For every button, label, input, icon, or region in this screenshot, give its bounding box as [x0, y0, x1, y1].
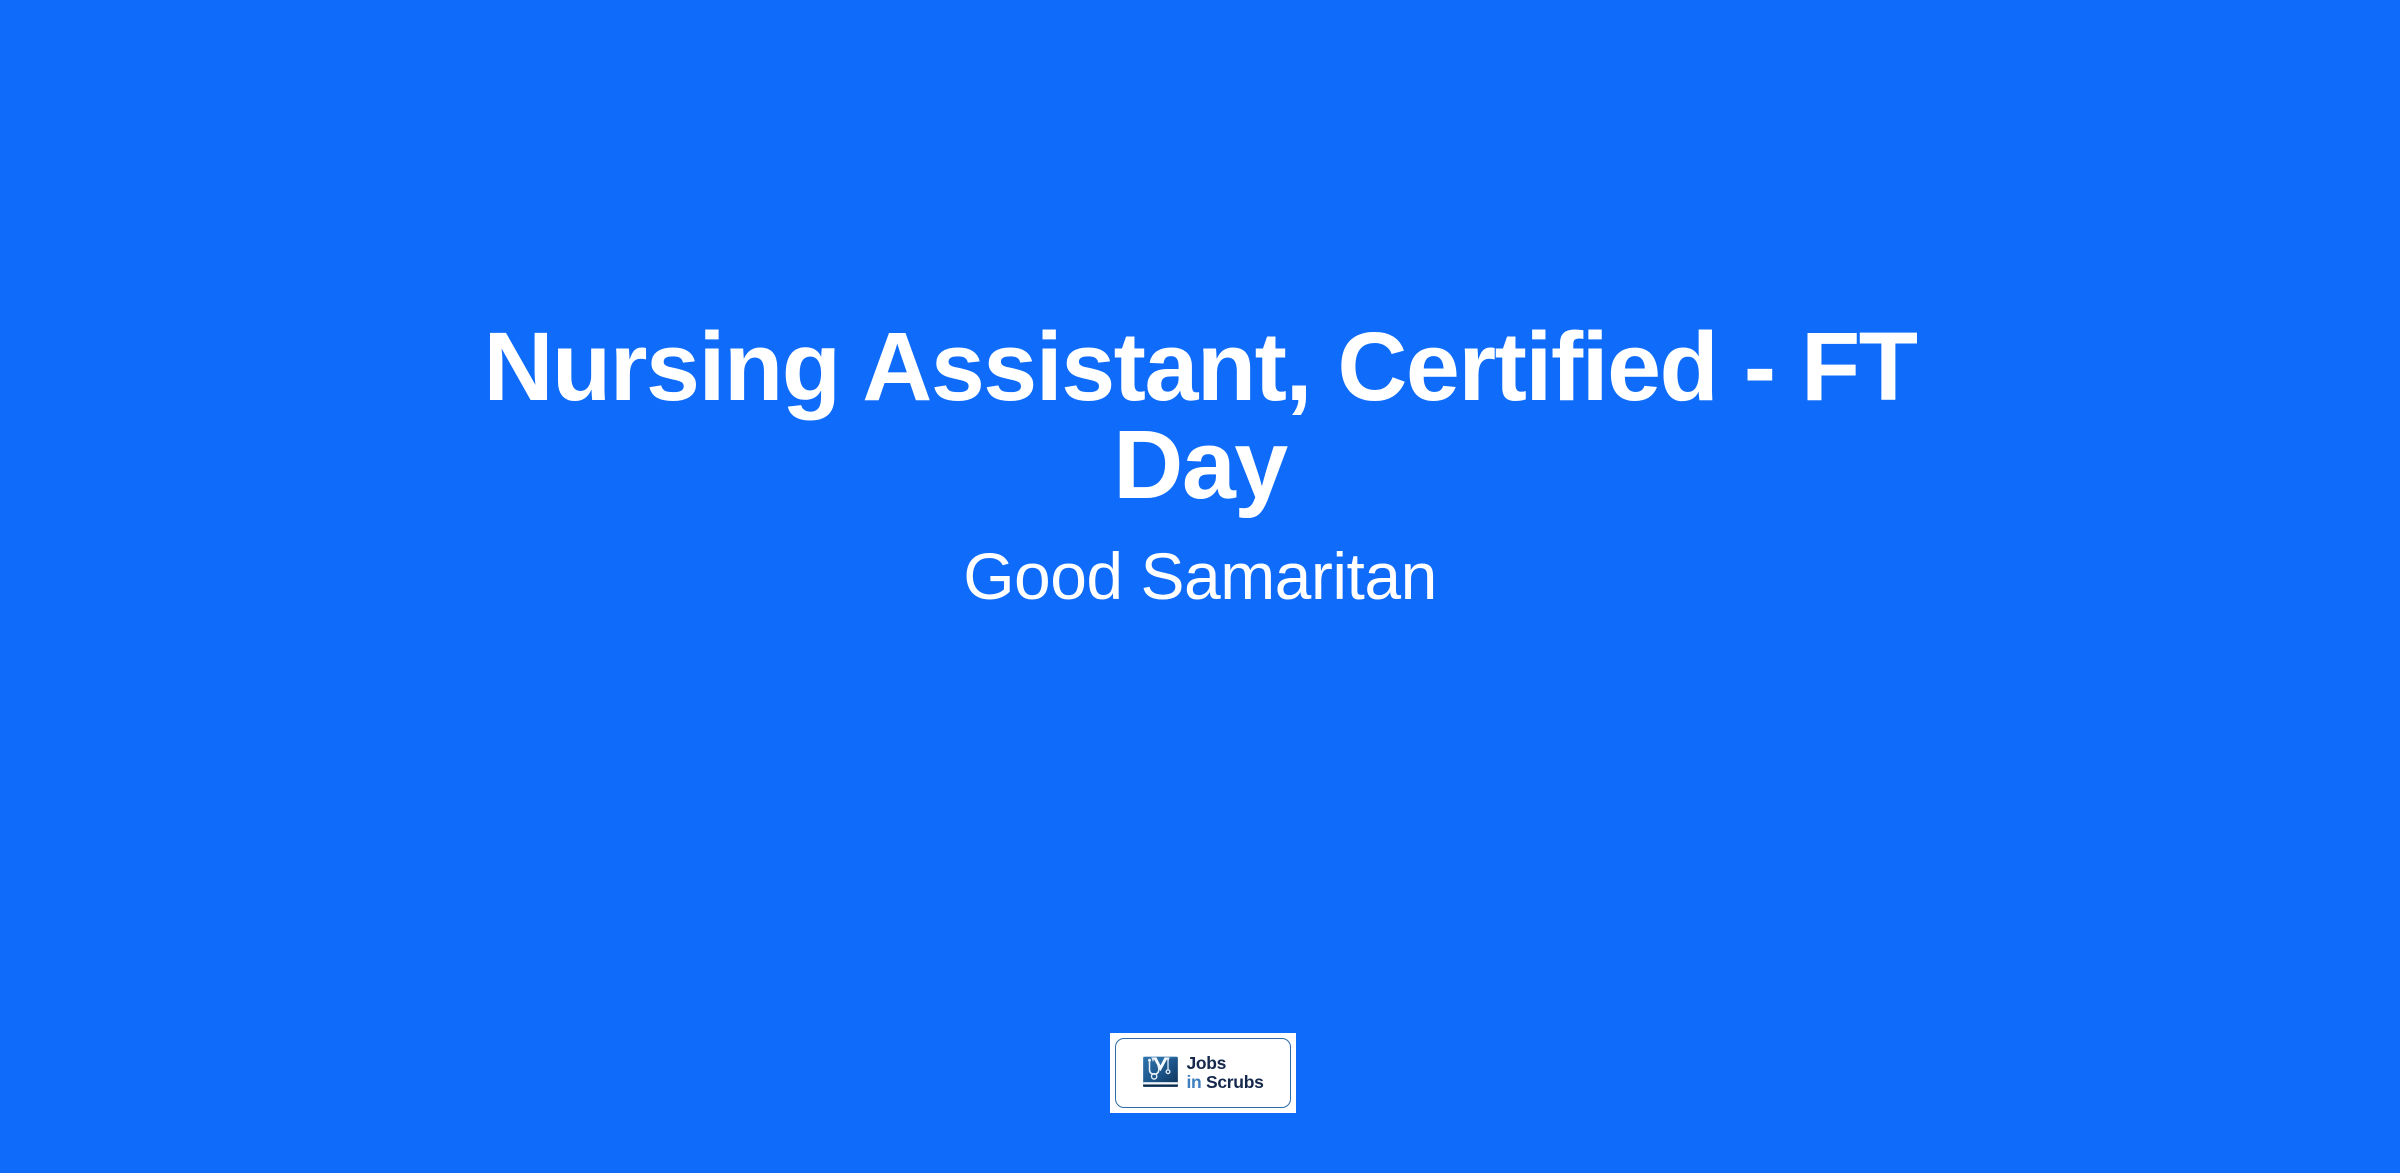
brand-wordmark: Jobs in Scrubs [1186, 1054, 1263, 1091]
scrubs-stethoscope-icon [1142, 1055, 1179, 1092]
brand-logo-card[interactable]: Jobs in Scrubs [1110, 1033, 1296, 1113]
brand-wordmark-scrubs: Scrubs [1206, 1072, 1264, 1092]
brand-wordmark-line-2: in Scrubs [1186, 1073, 1263, 1092]
posting-text-block: Nursing Assistant, Certified - FT Day Go… [0, 318, 2400, 616]
job-title: Nursing Assistant, Certified - FT Day [390, 318, 2010, 514]
job-posting-slide: Nursing Assistant, Certified - FT Day Go… [0, 0, 2400, 1173]
brand-wordmark-line-1: Jobs [1186, 1054, 1263, 1073]
brand-logo-inner-frame: Jobs in Scrubs [1115, 1038, 1291, 1108]
brand-wordmark-in: in [1186, 1072, 1201, 1092]
company-name: Good Samaritan [963, 538, 1437, 616]
